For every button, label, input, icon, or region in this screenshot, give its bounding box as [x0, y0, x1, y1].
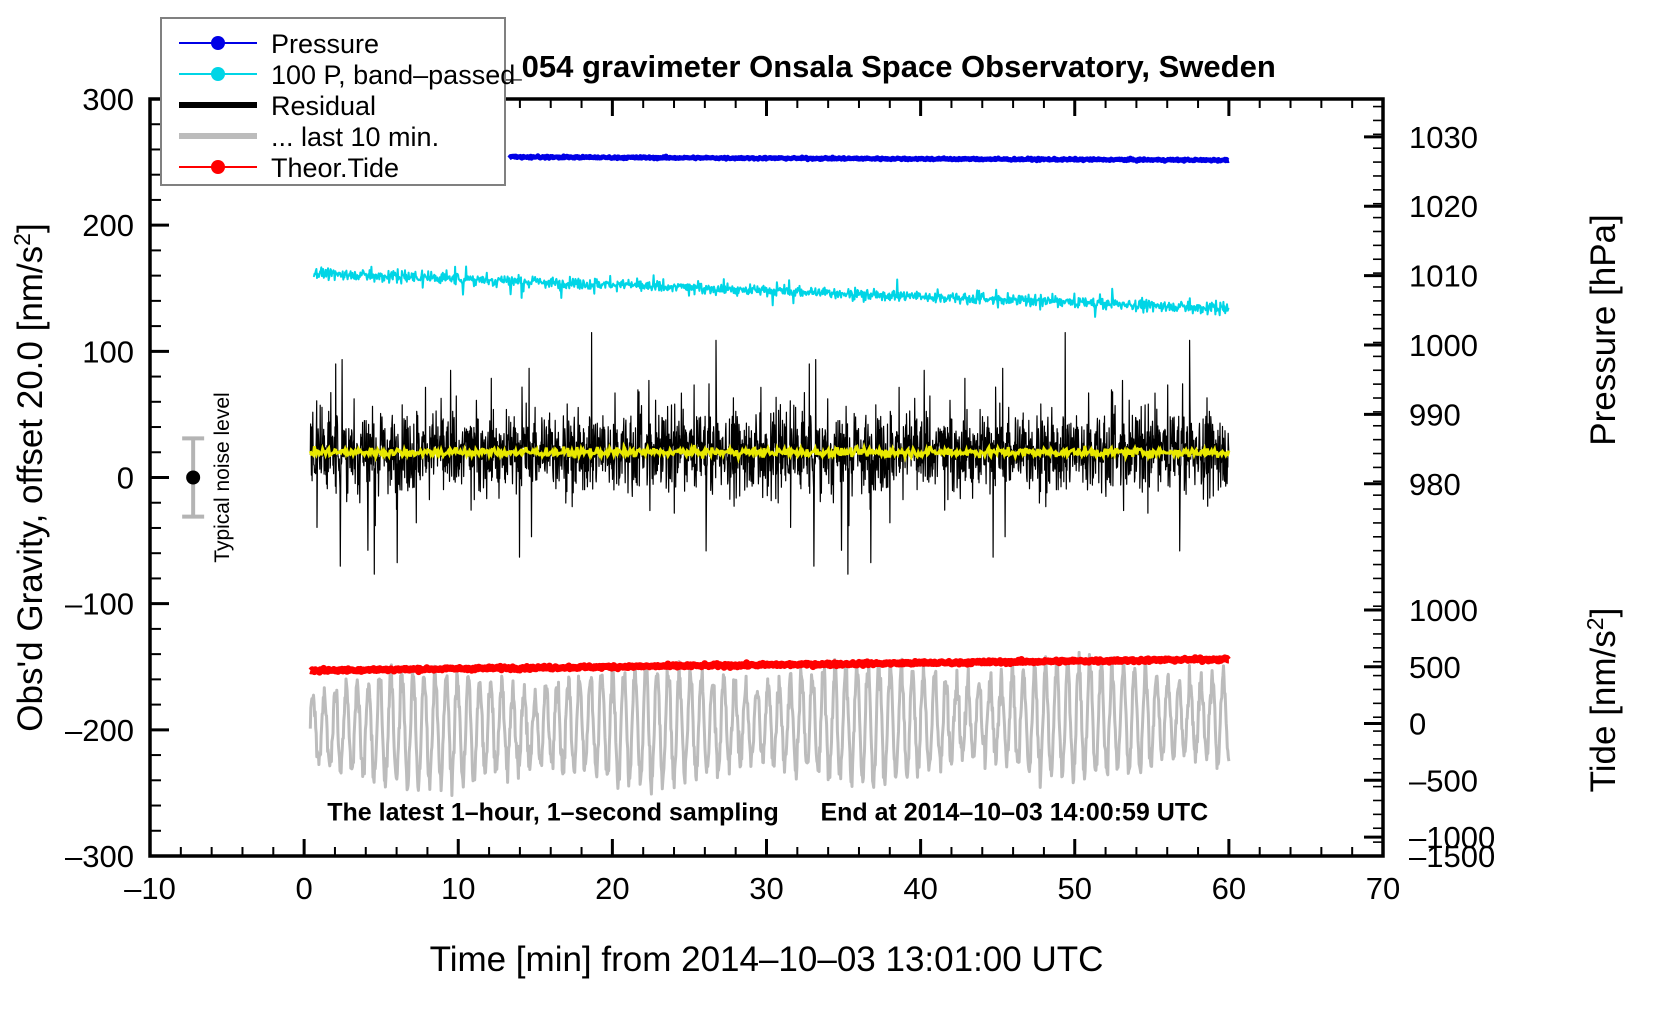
legend-item-label: ... last 10 min.	[271, 122, 439, 152]
x-tick-label: –10	[124, 871, 176, 906]
pressure-tick-label: 990	[1409, 397, 1461, 432]
tide-tick-label: 1000	[1409, 593, 1478, 628]
y-tick-label-left: –300	[65, 839, 134, 874]
x-tick-label: 70	[1366, 871, 1400, 906]
tide-tick-label: –500	[1409, 763, 1478, 798]
pressure-tick-label: 1020	[1409, 189, 1478, 224]
y-axis-title-pressure: Pressure [hPa]	[1584, 214, 1623, 446]
pressure-tick-label: 980	[1409, 467, 1461, 502]
pressure-tick-label: 1000	[1409, 328, 1478, 363]
end-time-note: End at 2014–10–03 14:00:59 UTC	[820, 799, 1208, 827]
legend-box[interactable]: Pressure100 P, band–passedResidual... la…	[161, 18, 515, 185]
x-tick-label: 10	[441, 871, 475, 906]
gravimeter-chart: –100102030405060703002001000–100–200–300…	[0, 0, 1660, 1020]
legend-item-label: Residual	[271, 91, 376, 121]
legend-swatch-marker	[211, 160, 225, 174]
x-axis-title: Time [min] from 2014–10–03 13:01:00 UTC	[430, 940, 1104, 979]
legend-item-label: Theor.Tide	[271, 153, 399, 183]
x-tick-label: 50	[1058, 871, 1092, 906]
legend-item-label: Pressure	[271, 29, 379, 59]
chart-page: –100102030405060703002001000–100–200–300…	[0, 0, 1660, 1020]
y-tick-label-left: 0	[117, 461, 134, 496]
y-axis-title-tide: Tide [nm/s2]	[1582, 608, 1623, 793]
x-tick-label: 30	[749, 871, 783, 906]
y-tick-label-left: 300	[82, 82, 134, 117]
tide-tick-label: –1500	[1409, 839, 1495, 874]
tide-tick-label: 500	[1409, 650, 1461, 685]
chart-title: SCG_054 gravimeter Onsala Space Observat…	[437, 49, 1276, 84]
x-tick-label: 40	[903, 871, 937, 906]
legend-swatch-marker	[211, 36, 225, 50]
tide-tick-label: 0	[1409, 707, 1426, 742]
y-tick-label-left: –100	[65, 587, 134, 622]
y-tick-label-left: –200	[65, 713, 134, 748]
sampling-note: The latest 1–hour, 1–second sampling	[327, 799, 779, 827]
y-tick-label-left: 100	[82, 334, 134, 369]
pressure-tick-label: 1030	[1409, 120, 1478, 155]
y-axis-title-left: Obs'd Gravity, offset 20.0 [nm/s2]	[9, 223, 50, 731]
noise-level-marker	[186, 471, 200, 485]
x-tick-label: 60	[1212, 871, 1246, 906]
y-tick-label-left: 200	[82, 208, 134, 243]
x-tick-label: 20	[595, 871, 629, 906]
noise-level-label: Typical noise level	[211, 392, 234, 562]
legend-item-label: 100 P, band–passed	[271, 60, 515, 90]
x-tick-label: 0	[296, 871, 313, 906]
pressure-tick-label: 1010	[1409, 259, 1478, 294]
legend-swatch-marker	[211, 67, 225, 81]
